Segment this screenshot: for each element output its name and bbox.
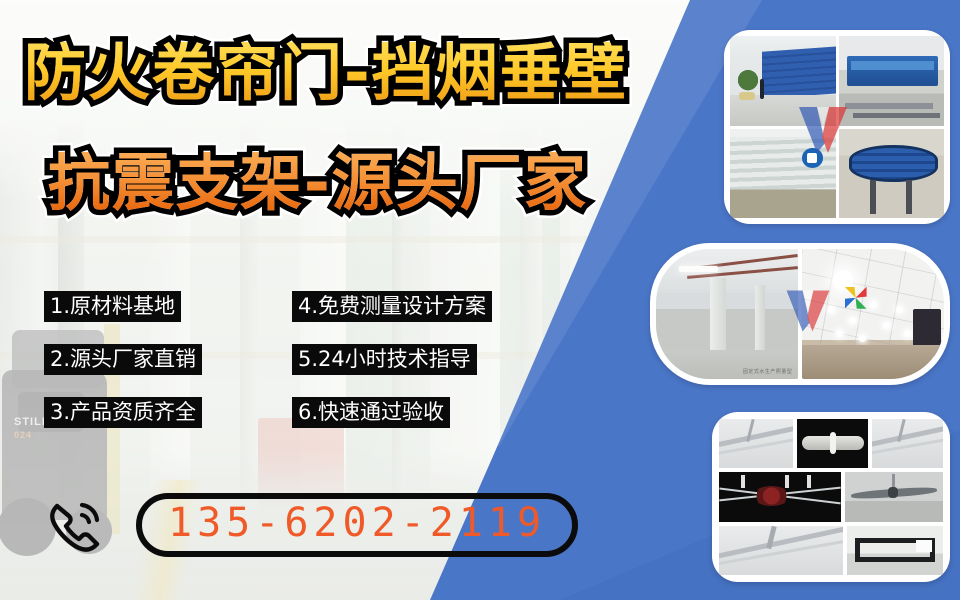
- collage-row: [719, 526, 943, 575]
- feature-cell: 4.免费测量设计方案: [292, 294, 492, 319]
- photo-dark-duct-brace: [797, 419, 868, 468]
- feature-item-5: 5.24小时技术指导: [292, 344, 477, 375]
- photo-blue-fire-shutter-door: [730, 36, 836, 126]
- garage-photo-pair[interactable]: 固定式水生产照量型: [650, 243, 950, 385]
- feature-list: 1.原材料基地 4.免费测量设计方案 2.源头厂家直销 5.24小时技术指导 3…: [44, 294, 564, 452]
- photo-shutter-production-machine: [839, 36, 945, 126]
- feature-row: 3.产品资质齐全 6.快速通过验收: [44, 400, 564, 425]
- photo-pipe-brace-ceiling: [719, 419, 793, 468]
- phone-ringing-icon: [44, 492, 110, 558]
- fire-shutter-photo-grid[interactable]: [724, 30, 950, 224]
- collage-row: [719, 472, 943, 521]
- feature-cell: 5.24小时技术指导: [292, 347, 477, 372]
- photo-parking-garage-interior: 固定式水生产照量型: [656, 249, 798, 379]
- photo-collage: [719, 419, 943, 575]
- feature-cell: 2.源头厂家直销: [44, 347, 292, 372]
- photo-large-ceiling-fan: [845, 472, 943, 521]
- feature-cell: 1.原材料基地: [44, 294, 292, 319]
- feature-item-1: 1.原材料基地: [44, 291, 181, 322]
- photo-ceiling-with-downlights: [802, 249, 944, 379]
- photo-grid: [730, 36, 944, 218]
- phone-number-pill[interactable]: 135-6202-2119: [136, 493, 578, 557]
- photo-pair: 固定式水生产照量型: [656, 249, 944, 379]
- feature-item-6: 6.快速通过验收: [292, 397, 450, 428]
- seismic-bracing-collage[interactable]: [712, 412, 950, 582]
- photo-silver-rolling-shutter: [730, 129, 836, 219]
- feature-row: 2.源头厂家直销 5.24小时技术指导: [44, 347, 564, 372]
- contact-block[interactable]: 135-6202-2119: [44, 492, 578, 558]
- photo-blue-shutter-coil: [839, 129, 945, 219]
- photo-steel-frame-structure: [847, 526, 943, 575]
- feature-item-4: 4.免费测量设计方案: [292, 291, 492, 322]
- photo-red-fan-brace: [719, 472, 841, 521]
- feature-row: 1.原材料基地 4.免费测量设计方案: [44, 294, 564, 319]
- photo-pipe-clamp-brace: [872, 419, 943, 468]
- promo-poster: STILL 024 防火卷帘门-挡烟垂壁 防火卷帘门-挡烟垂壁 防火卷帘门-挡烟…: [0, 0, 960, 600]
- feature-cell: 3.产品资质齐全: [44, 400, 292, 425]
- feature-cell: 6.快速通过验收: [292, 400, 450, 425]
- phone-number: 135-6202-2119: [168, 500, 546, 546]
- feature-item-3: 3.产品资质齐全: [44, 397, 202, 428]
- photo-shutter-rail-brace: [719, 526, 843, 575]
- headline-secondary: 抗震支架-源头厂家: [48, 152, 588, 214]
- collage-row: [719, 419, 943, 468]
- feature-item-2: 2.源头厂家直销: [44, 344, 202, 375]
- photo-caption: 固定式水生产照量型: [743, 368, 793, 375]
- headline-primary: 防火卷帘门-挡烟垂壁: [24, 42, 628, 104]
